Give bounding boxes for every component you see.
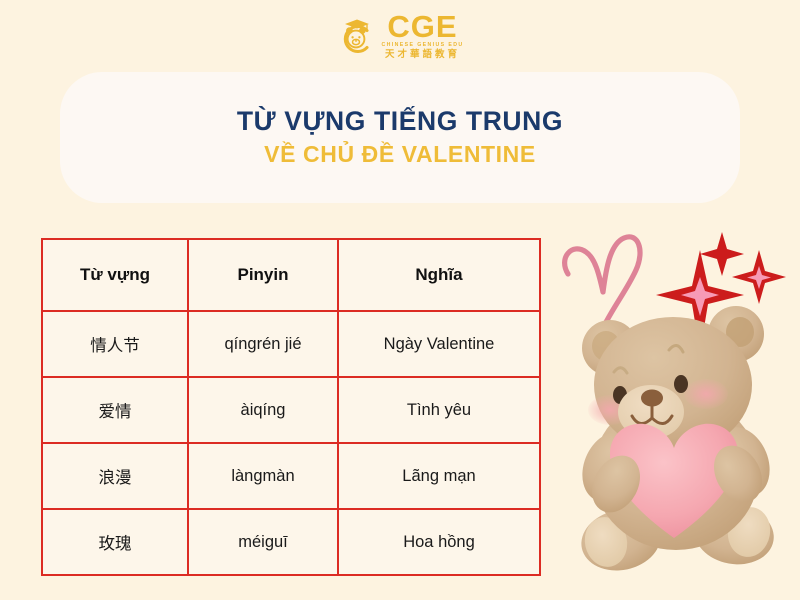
page-title: TỪ VỰNG TIẾNG TRUNG <box>237 107 563 137</box>
table-header-row: Từ vựng Pinyin Nghĩa <box>42 239 540 311</box>
table-row: 情人节 qíngrén jié Ngày Valentine <box>42 311 540 377</box>
bear-graduate-icon <box>337 15 377 55</box>
cell-pinyin: qíngrén jié <box>188 311 338 377</box>
table-row: 爱情 àiqíng Tình yêu <box>42 377 540 443</box>
logo-wordmark: CGE <box>387 11 457 42</box>
cell-meaning: Ngày Valentine <box>338 311 540 377</box>
cell-meaning: Tình yêu <box>338 377 540 443</box>
cell-word: 情人节 <box>42 311 188 377</box>
page-subtitle: VỀ CHỦ ĐỀ VALENTINE <box>264 142 536 168</box>
cell-word: 玫瑰 <box>42 509 188 575</box>
sparkle-small-top-icon <box>700 232 744 276</box>
column-header-pinyin: Pinyin <box>188 239 338 311</box>
header-panel: TỪ VỰNG TIẾNG TRUNG VỀ CHỦ ĐỀ VALENTINE <box>60 72 740 203</box>
logo-subtitle-cn: 天才華語教育 <box>385 50 460 60</box>
logo-block: CGE CHINESE GENIUS EDU 天才華語教育 <box>0 8 800 62</box>
teddy-bear-icon <box>572 306 779 578</box>
table-row: 浪漫 làngmàn Lãng mạn <box>42 443 540 509</box>
valentine-teddy-bear-illustration <box>548 222 800 600</box>
cell-word: 浪漫 <box>42 443 188 509</box>
cell-pinyin: méiguī <box>188 509 338 575</box>
cell-pinyin: làngmàn <box>188 443 338 509</box>
cge-logo: CGE CHINESE GENIUS EDU 天才華語教育 <box>337 11 464 60</box>
heart-doodle-icon <box>565 237 640 326</box>
cell-word: 爱情 <box>42 377 188 443</box>
column-header-word: Từ vựng <box>42 239 188 311</box>
cell-pinyin: àiqíng <box>188 377 338 443</box>
vocabulary-table: Từ vựng Pinyin Nghĩa 情人节 qíngrén jié Ngà… <box>41 238 541 576</box>
column-header-meaning: Nghĩa <box>338 239 540 311</box>
cell-meaning: Lãng mạn <box>338 443 540 509</box>
cell-meaning: Hoa hồng <box>338 509 540 575</box>
table-row: 玫瑰 méiguī Hoa hồng <box>42 509 540 575</box>
logo-subtitle-en: CHINESE GENIUS EDU <box>382 43 464 48</box>
